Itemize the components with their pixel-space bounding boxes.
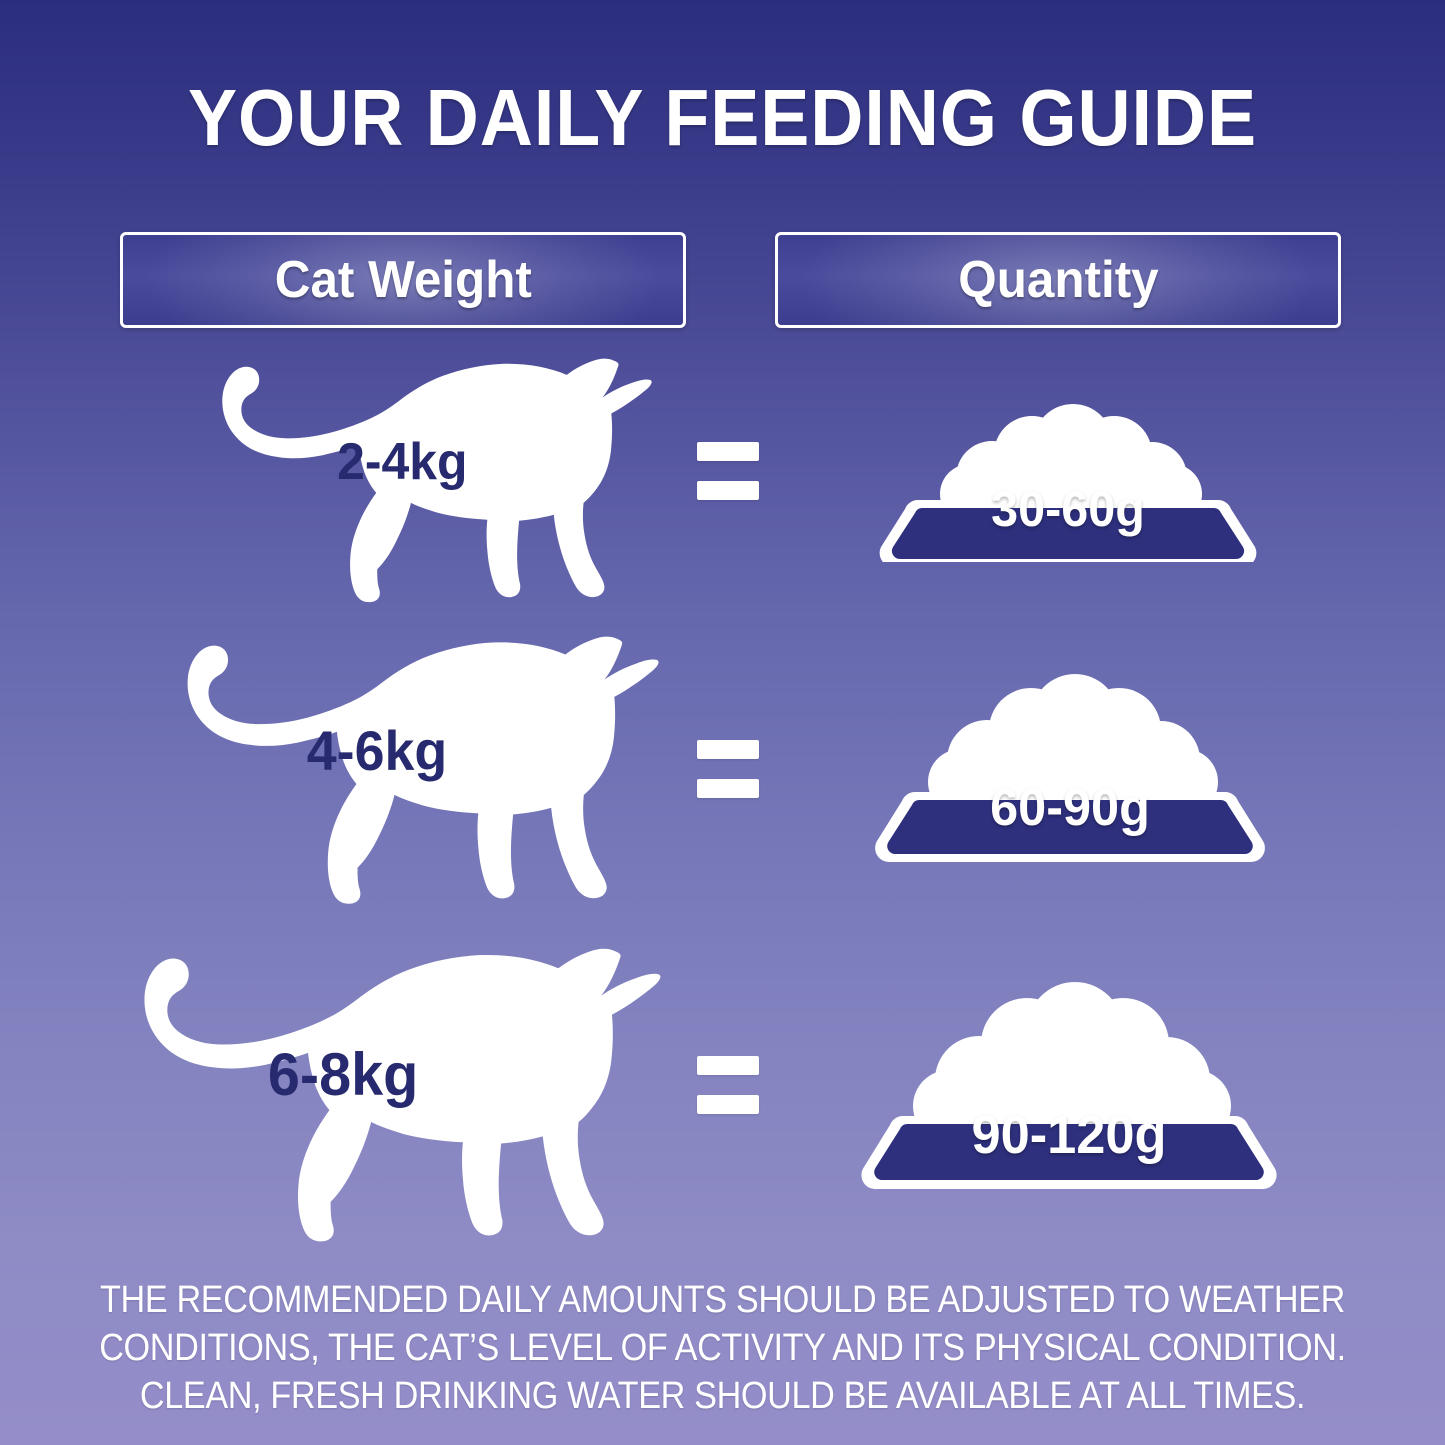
cat-weight-value: 4-6kg bbox=[307, 718, 447, 783]
quantity-value: 60-90g bbox=[990, 778, 1150, 838]
equals-icon bbox=[697, 442, 759, 500]
quantity-value: 30-60g bbox=[991, 480, 1145, 538]
equals-bar-top bbox=[697, 740, 759, 759]
cat-silhouette-icon: 4-6kg bbox=[108, 636, 668, 908]
footer-line-1: THE RECOMMENDED DAILY AMOUNTS SHOULD BE … bbox=[72, 1276, 1373, 1324]
feeding-row: 2-4kg 30-60g bbox=[0, 352, 1445, 632]
cat-silhouette-icon: 2-4kg bbox=[150, 358, 660, 606]
column-header-quantity: Quantity bbox=[775, 232, 1341, 328]
footer-line-2: CONDITIONS, THE CAT’S LEVEL OF ACTIVITY … bbox=[72, 1324, 1373, 1372]
equals-bar-top bbox=[697, 1056, 759, 1075]
equals-bar-top bbox=[697, 442, 759, 461]
equals-bar-bottom bbox=[697, 1095, 759, 1114]
footer-note: THE RECOMMENDED DAILY AMOUNTS SHOULD BE … bbox=[0, 1276, 1445, 1420]
feeding-guide-poster: YOUR DAILY FEEDING GUIDE Cat Weight Quan… bbox=[0, 0, 1445, 1445]
column-header-cat-weight-label: Cat Weight bbox=[274, 250, 531, 310]
cat-silhouette-icon: 6-8kg bbox=[58, 948, 670, 1246]
feeding-row: 4-6kg 60-90g bbox=[0, 630, 1445, 930]
cat-weight-value: 2-4kg bbox=[337, 432, 467, 492]
cat-weight-value: 6-8kg bbox=[267, 1040, 417, 1109]
feeding-row: 6-8kg 90-120g bbox=[0, 938, 1445, 1258]
footer-line-3: CLEAN, FRESH DRINKING WATER SHOULD BE AV… bbox=[72, 1372, 1373, 1420]
quantity-value: 90-120g bbox=[971, 1104, 1166, 1166]
column-header-cat-weight: Cat Weight bbox=[120, 232, 686, 328]
food-bowl-icon: 60-90g bbox=[855, 664, 1285, 864]
equals-bar-bottom bbox=[697, 779, 759, 798]
page-title: YOUR DAILY FEEDING GUIDE bbox=[58, 72, 1387, 164]
equals-bar-bottom bbox=[697, 481, 759, 500]
food-bowl-icon: 30-60g bbox=[860, 382, 1276, 562]
food-bowl-icon: 90-120g bbox=[843, 976, 1295, 1194]
column-header-quantity-label: Quantity bbox=[958, 250, 1158, 310]
equals-icon bbox=[697, 740, 759, 798]
equals-icon bbox=[697, 1056, 759, 1114]
